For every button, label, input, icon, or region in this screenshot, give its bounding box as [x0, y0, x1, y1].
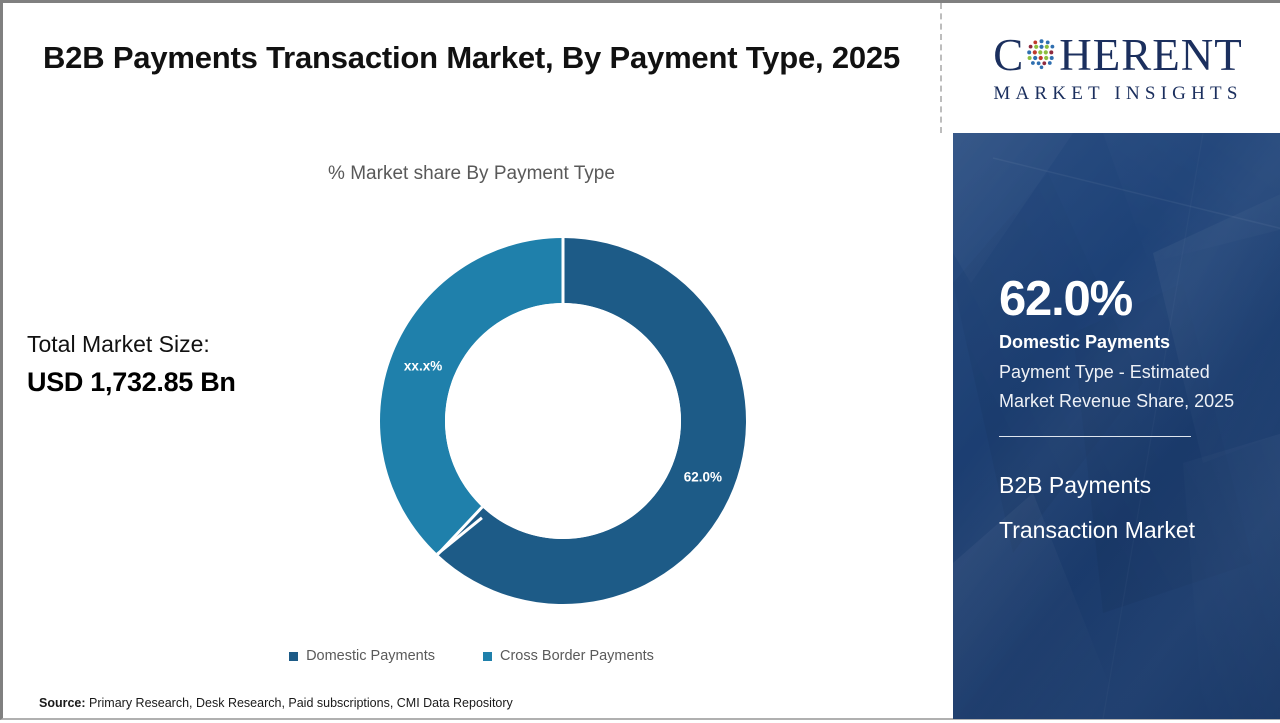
logo-wordmark: C [993, 32, 1243, 80]
logo-tagline: MARKET INSIGHTS [993, 83, 1242, 105]
source-footer: Source: Primary Research, Desk Research,… [39, 696, 513, 710]
vertical-dashed-divider [940, 3, 942, 133]
stat-value: 62.0% [999, 275, 1261, 325]
donut-chart-svg: xx.x% 62.0% [358, 216, 768, 626]
infographic-canvas: B2B Payments Transaction Market, By Paym… [0, 0, 1280, 720]
source-label: Source: [39, 696, 86, 710]
chart-pane: B2B Payments Transaction Market, By Paym… [3, 3, 940, 723]
panel-market-name: B2B Payments Transaction Market [999, 463, 1261, 554]
legend-label: Domestic Payments [306, 648, 435, 664]
legend-label: Cross Border Payments [500, 648, 654, 664]
source-text: Primary Research, Desk Research, Paid su… [86, 696, 513, 710]
donut-label-domestic: 62.0% [684, 469, 722, 484]
globe-dots-icon [1025, 37, 1058, 75]
legend-swatch-icon [289, 652, 298, 661]
donut-label-cross-border: xx.x% [404, 359, 442, 374]
total-market-size-block: Total Market Size: USD 1,732.85 Bn [27, 325, 327, 400]
legend-swatch-icon [483, 652, 492, 661]
logo-letters-herent: HERENT [1059, 33, 1242, 78]
stat-panel-content: 62.0% Domestic Payments Payment Type - E… [999, 133, 1261, 554]
total-market-size-value: USD 1,732.85 Bn [27, 364, 327, 400]
donut-chart: xx.x% 62.0% [358, 216, 768, 626]
logo-letter-c: C [993, 33, 1024, 78]
legend-item-cross-border-payments[interactable]: Cross Border Payments [483, 648, 654, 664]
stat-description: Payment Type - Estimated Market Revenue … [999, 358, 1261, 416]
legend-item-domestic-payments[interactable]: Domestic Payments [289, 648, 435, 664]
brand-logo[interactable]: C [953, 3, 1280, 133]
page-title: B2B Payments Transaction Market, By Paym… [43, 33, 903, 83]
stat-category: Domestic Payments [999, 332, 1261, 354]
total-market-size-label: Total Market Size: [27, 325, 327, 364]
stat-side-panel: 62.0% Domestic Payments Payment Type - E… [953, 133, 1280, 719]
donut-hole [445, 303, 681, 539]
chart-legend: Domestic Payments Cross Border Payments [3, 648, 940, 664]
chart-subtitle: % Market share By Payment Type [3, 163, 940, 185]
panel-divider-rule [999, 436, 1191, 437]
